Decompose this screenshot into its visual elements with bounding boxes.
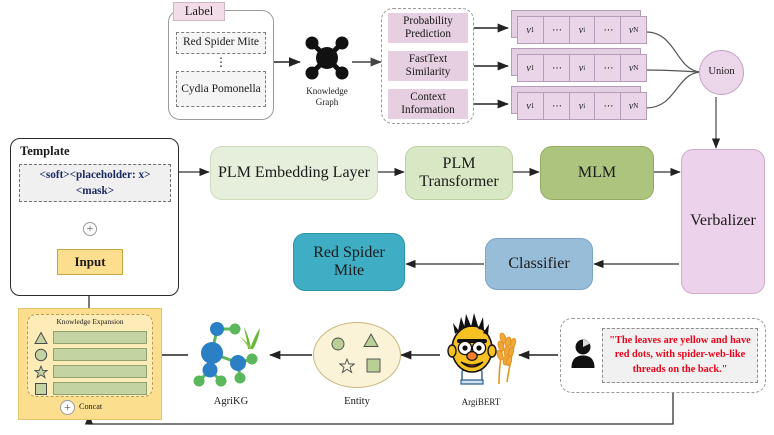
user-quote-line3: threads on the back." <box>633 363 728 377</box>
vector-stack-0: v1 ⋯ vi ⋯ vN <box>511 10 651 46</box>
vector-cell: vi <box>570 93 596 119</box>
vector-row-1: v1 ⋯ vi ⋯ vN <box>517 54 647 82</box>
input-box: Input <box>57 249 123 275</box>
vcell-base: ⋯ <box>603 63 613 74</box>
knowledge-graph-icon <box>301 32 353 84</box>
verbalizer-label: Verbalizer <box>690 212 756 230</box>
label-ellipsis: ⋮ <box>176 56 266 70</box>
entity-ellipse <box>313 322 401 388</box>
label-chip: Label <box>173 2 225 21</box>
label-item-0: Red Spider Mite <box>176 32 266 54</box>
vector-cell: vi <box>570 17 596 43</box>
vector-cell: ⋯ <box>544 93 570 119</box>
prediction-block: Red Spider Mite <box>293 233 405 291</box>
vcell-sub: 1 <box>531 26 535 34</box>
source-2-line2: Information <box>401 104 454 117</box>
mlm-label: MLM <box>578 164 616 182</box>
ke-row-star-icon <box>34 365 48 379</box>
template-pattern-line2: <mask> <box>76 183 114 199</box>
vector-cell: vi <box>570 55 596 81</box>
vector-cell: vN <box>621 93 646 119</box>
ke-bar-1 <box>53 348 147 361</box>
source-2-line1: Context <box>410 91 445 104</box>
plm-transformer-block: PLM Transformer <box>405 146 513 200</box>
vcell-sub: N <box>633 64 638 72</box>
source-1-line2: Similarity <box>406 66 451 79</box>
entity-triangle-icon <box>363 333 379 348</box>
concat-label: Concat <box>79 402 102 411</box>
vector-stack-1: v1 ⋯ vi ⋯ vN <box>511 48 651 84</box>
vector-cell: ⋯ <box>544 17 570 43</box>
ke-bar-3 <box>53 382 147 395</box>
template-pattern: <soft><placeholder: x> <mask> <box>19 164 171 202</box>
vcell-sub: 1 <box>531 102 535 110</box>
ke-bar-2 <box>53 365 147 378</box>
user-avatar-icon <box>570 338 596 368</box>
vcell-sub: N <box>633 102 638 110</box>
vcell-base: ⋯ <box>551 63 561 74</box>
vcell-sub: i <box>583 102 585 110</box>
source-context-information: Context Information <box>388 89 468 119</box>
template-pattern-line1: <soft><placeholder: x> <box>40 167 151 183</box>
diagram-canvas: Label Red Spider Mite ⋮ Cydia Pomonella … <box>0 0 774 435</box>
vector-row-0: v1 ⋯ vi ⋯ vN <box>517 16 647 44</box>
knowledge-expansion-title: Knowledge Expansion <box>27 316 153 328</box>
classifier-label: Classifier <box>508 255 569 273</box>
vcell-base: ⋯ <box>551 101 561 112</box>
user-quote-text: "The leaves are yellow and have red dots… <box>602 328 758 383</box>
vcell-sub: N <box>633 26 638 34</box>
vector-cell: ⋯ <box>595 93 621 119</box>
plm-embedding-layer-label: PLM Embedding Layer <box>218 164 370 182</box>
vector-cell: vN <box>621 17 646 43</box>
source-probability-prediction: Probability Prediction <box>388 13 468 43</box>
prediction-line1: Red Spider <box>313 244 385 262</box>
source-fasttext-similarity: FastText Similarity <box>388 51 468 81</box>
union-node: Union <box>699 50 744 95</box>
source-0-line1: Probability <box>403 15 453 28</box>
label-item-1: Cydia Pomonella <box>176 71 266 107</box>
prediction-line2: Mite <box>334 262 364 280</box>
plm-transformer-label-line2: Transformer <box>419 173 498 191</box>
label-item-1-text: Cydia Pomonella <box>181 82 261 96</box>
ke-bar-0 <box>53 331 147 344</box>
verbalizer-block: Verbalizer <box>681 149 765 294</box>
agrikg-icon <box>190 315 270 391</box>
agribert-icon <box>441 312 519 390</box>
vcell-sub: i <box>583 26 585 34</box>
user-quote-line1: "The leaves are yellow and have <box>609 334 750 348</box>
plm-transformer-label-line1: PLM <box>443 155 476 173</box>
source-0-line2: Prediction <box>405 28 451 41</box>
vector-cell: v1 <box>518 93 544 119</box>
vector-cell: vN <box>621 55 646 81</box>
entity-caption: Entity <box>327 396 387 407</box>
vector-cell: ⋯ <box>544 55 570 81</box>
classifier-block: Classifier <box>485 238 593 290</box>
vcell-sub: i <box>583 64 585 72</box>
vcell-base: ⋯ <box>551 25 561 36</box>
vcell-base: ⋯ <box>603 25 613 36</box>
template-title: Template <box>20 144 70 159</box>
agribert-caption: ArgiBERT <box>445 397 517 407</box>
vector-cell: v1 <box>518 55 544 81</box>
knowledge-graph-caption-line2: Graph <box>295 97 359 108</box>
agrikg-caption: AgriKG <box>196 396 266 407</box>
ke-row-triangle-icon <box>34 331 48 345</box>
vcell-sub: 1 <box>531 64 535 72</box>
knowledge-graph-caption-line1: Knowledge <box>295 86 359 97</box>
vcell-base: ⋯ <box>603 101 613 112</box>
vector-cell: ⋯ <box>595 55 621 81</box>
source-1-line1: FastText <box>409 53 447 66</box>
concat-plus-node: + <box>60 400 75 415</box>
template-plus-node: + <box>83 222 97 236</box>
entity-circle-icon <box>331 337 345 351</box>
mlm-block: MLM <box>540 146 654 200</box>
vector-cell: v1 <box>518 17 544 43</box>
entity-square-icon <box>366 358 381 373</box>
vector-row-2: v1 ⋯ vi ⋯ vN <box>517 92 647 120</box>
user-quote-line2: red dots, with spider-web-like <box>615 348 745 362</box>
ke-row-circle-icon <box>34 348 48 362</box>
ke-row-square-icon <box>34 382 48 396</box>
knowledge-graph-caption: Knowledge Graph <box>295 86 359 108</box>
vector-cell: ⋯ <box>595 17 621 43</box>
entity-star-icon <box>339 358 355 374</box>
plm-embedding-layer-block: PLM Embedding Layer <box>210 146 378 200</box>
vector-stack-2: v1 ⋯ vi ⋯ vN <box>511 86 651 122</box>
